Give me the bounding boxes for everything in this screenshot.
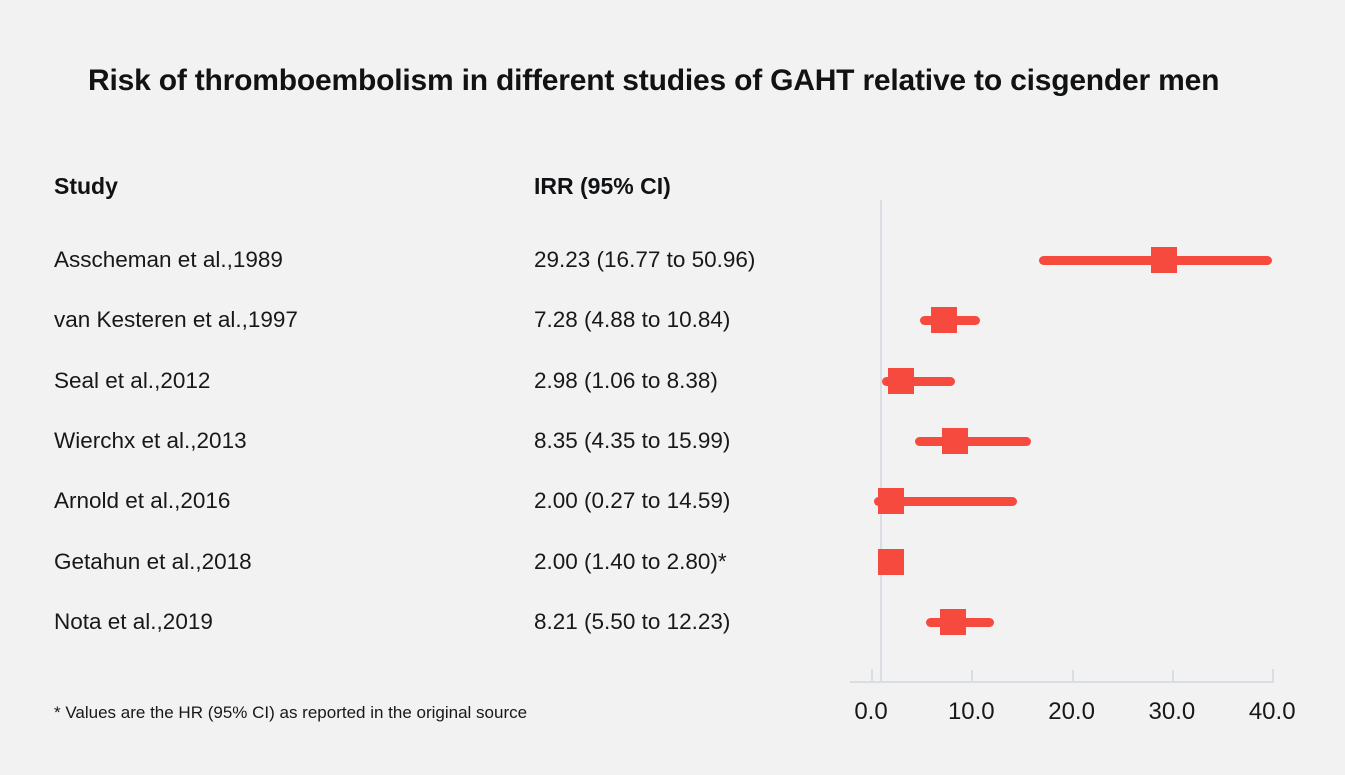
confidence-interval-bar (915, 437, 1032, 446)
point-estimate-marker (931, 307, 957, 333)
point-estimate-marker (878, 549, 904, 575)
point-estimate-marker (942, 428, 968, 454)
point-estimate-marker (878, 488, 904, 514)
point-estimate-marker (888, 368, 914, 394)
plot-panel: 0.010.020.030.040.0 (0, 0, 1345, 775)
x-axis-tick-label: 10.0 (926, 698, 1016, 726)
point-estimate-marker (1151, 247, 1177, 273)
reference-line (880, 200, 882, 682)
x-axis-tick-label: 0.0 (826, 698, 916, 726)
x-axis-tick (1272, 669, 1274, 682)
x-axis-tick (1172, 670, 1174, 682)
x-axis-tick (971, 670, 973, 682)
forest-plot-figure: Risk of thromboembolism in different stu… (0, 0, 1345, 775)
point-estimate-marker (940, 609, 966, 635)
x-axis-tick (1072, 670, 1074, 682)
x-axis-tick-label: 30.0 (1127, 698, 1217, 726)
footnote: * Values are the HR (95% CI) as reported… (54, 703, 527, 723)
x-axis-line (850, 681, 1274, 683)
x-axis-tick-label: 40.0 (1227, 698, 1317, 726)
x-axis-tick-label: 20.0 (1027, 698, 1117, 726)
x-axis-tick (871, 669, 873, 682)
